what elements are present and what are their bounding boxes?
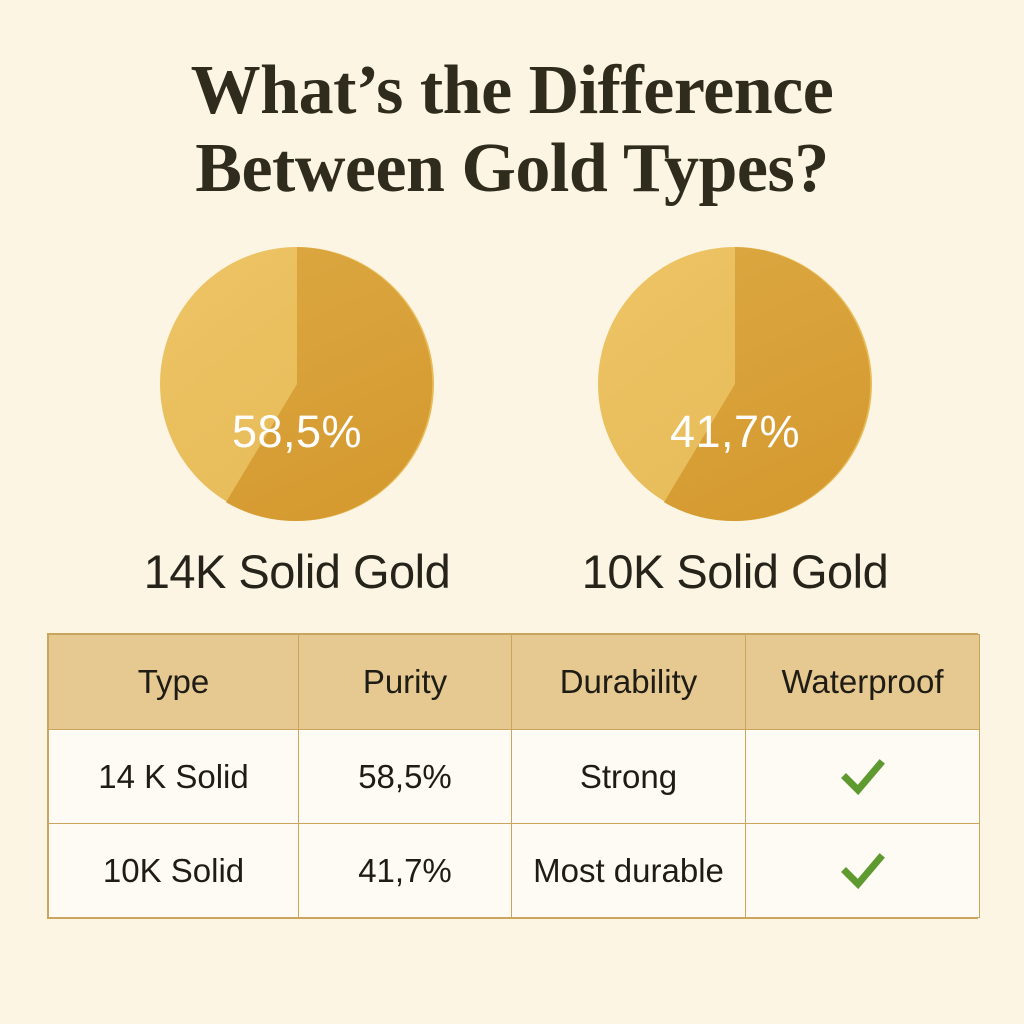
cell-waterproof (746, 730, 980, 824)
pie-chart-10k: 41,7% (597, 246, 873, 522)
cell-type: 14 K Solid (49, 730, 299, 824)
check-icon (841, 851, 885, 891)
column-header-waterproof: Waterproof (746, 635, 980, 730)
cell-purity: 41,7% (299, 824, 512, 918)
table-body: 14 K Solid 58,5% Strong 10K Solid 41,7% (49, 730, 980, 918)
cell-waterproof (746, 824, 980, 918)
column-header-type: Type (49, 635, 299, 730)
pie-unit-14k: 58,5% 14K Solid Gold (87, 246, 507, 599)
pie-chart-14k-svg (159, 246, 435, 522)
table-header: Type Purity Durability Waterproof (49, 635, 980, 730)
pie-chart-14k: 58,5% (159, 246, 435, 522)
pie-unit-10k: 41,7% 10K Solid Gold (525, 246, 945, 599)
table-row: 10K Solid 41,7% Most durable (49, 824, 980, 918)
cell-purity: 58,5% (299, 730, 512, 824)
table-header-row: Type Purity Durability Waterproof (49, 635, 980, 730)
pie-caption-14k: 14K Solid Gold (87, 544, 507, 599)
pie-caption-10k: 10K Solid Gold (525, 544, 945, 599)
cell-type: 10K Solid (49, 824, 299, 918)
page-title-line-2: Between Gold Types? (0, 130, 1024, 208)
comparison-table: Type Purity Durability Waterproof 14 K S… (48, 634, 980, 918)
page-title: What’s the Difference Between Gold Types… (0, 52, 1024, 209)
comparison-table-container: Type Purity Durability Waterproof 14 K S… (47, 633, 978, 919)
pie-value-label-14k: 58,5% (159, 406, 435, 458)
check-icon (841, 757, 885, 797)
cell-durability: Strong (512, 730, 746, 824)
pie-chart-group: 58,5% 14K Solid Gold (0, 246, 1024, 606)
gold-types-infographic: What’s the Difference Between Gold Types… (0, 0, 1024, 1024)
table-row: 14 K Solid 58,5% Strong (49, 730, 980, 824)
column-header-durability: Durability (512, 635, 746, 730)
pie-chart-10k-svg (597, 246, 873, 522)
cell-durability: Most durable (512, 824, 746, 918)
column-header-purity: Purity (299, 635, 512, 730)
page-title-line-1: What’s the Difference (0, 52, 1024, 130)
pie-value-label-10k: 41,7% (597, 406, 873, 458)
